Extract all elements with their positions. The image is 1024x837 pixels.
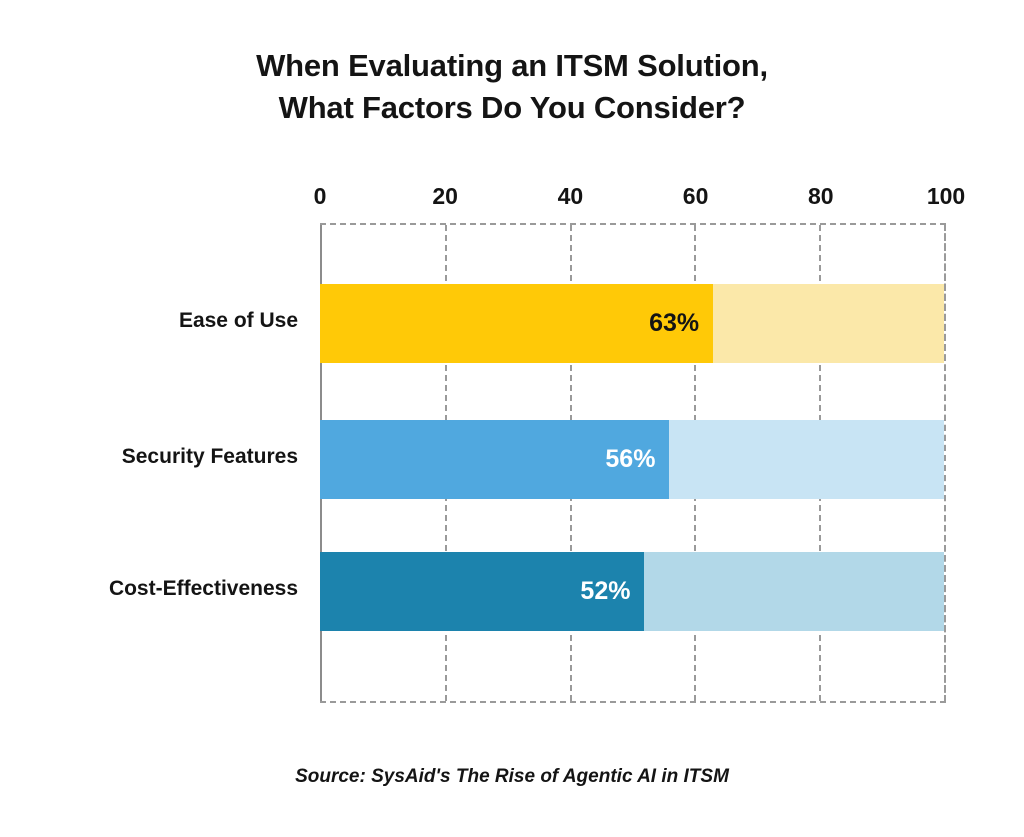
bar-value-label: 56% xyxy=(605,445,669,474)
gridline-100 xyxy=(944,225,946,701)
bar-value-label: 52% xyxy=(580,577,644,606)
category-label-cost-effectiveness: Cost-Effectiveness xyxy=(0,577,298,601)
x-axis-tick-60: 60 xyxy=(683,183,709,210)
chart-title-line-1: When Evaluating an ITSM Solution, xyxy=(0,45,1024,87)
bar-value-label: 63% xyxy=(649,309,713,338)
category-label-ease-of-use: Ease of Use xyxy=(0,309,298,333)
x-axis-tick-100: 100 xyxy=(927,183,965,210)
plot-area: 63%56%52% xyxy=(320,223,946,703)
bar-fill[interactable]: 63% xyxy=(320,284,713,363)
x-axis-tick-20: 20 xyxy=(432,183,458,210)
bar-fill[interactable]: 52% xyxy=(320,552,644,631)
x-axis-tick-labels: 020406080100 xyxy=(320,183,946,213)
x-axis-tick-80: 80 xyxy=(808,183,834,210)
source-note: Source: SysAid's The Rise of Agentic AI … xyxy=(0,766,1024,788)
x-axis-tick-40: 40 xyxy=(558,183,584,210)
bar-row[interactable]: 63% xyxy=(320,284,944,363)
x-axis-tick-0: 0 xyxy=(314,183,327,210)
chart-title-line-2: What Factors Do You Consider? xyxy=(0,87,1024,129)
bar-fill[interactable]: 56% xyxy=(320,420,669,499)
category-label-security-features: Security Features xyxy=(0,445,298,469)
bar-row[interactable]: 52% xyxy=(320,552,944,631)
bar-row[interactable]: 56% xyxy=(320,420,944,499)
chart-title: When Evaluating an ITSM Solution, What F… xyxy=(0,45,1024,129)
chart-canvas: When Evaluating an ITSM Solution, What F… xyxy=(0,0,1024,837)
